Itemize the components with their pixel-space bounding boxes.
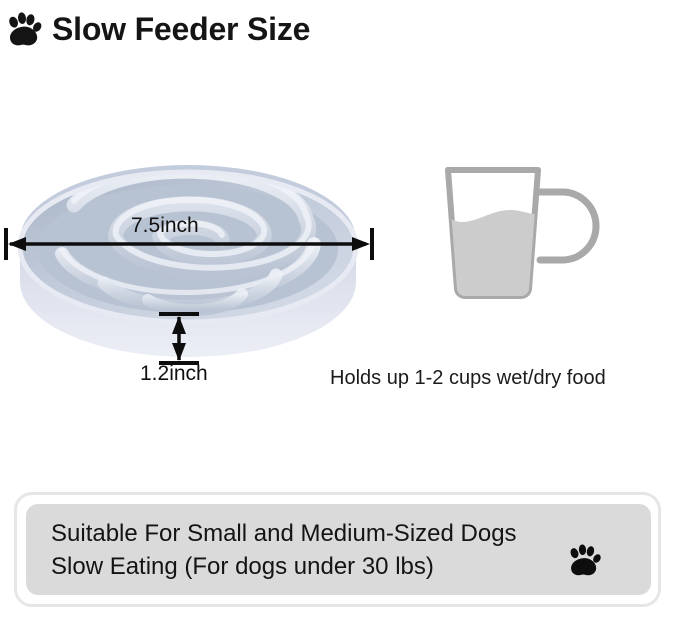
mug-handle xyxy=(540,192,596,260)
page-title: Slow Feeder Size xyxy=(52,11,310,48)
suitability-text: Suitable For Small and Medium-Sized Dogs… xyxy=(51,517,565,583)
page-header: Slow Feeder Size xyxy=(0,0,679,58)
width-dimension-label: 7.5inch xyxy=(131,214,199,238)
paw-print-icon xyxy=(4,9,44,49)
height-dimension-label: 1.2inch xyxy=(140,362,208,386)
capacity-caption: Holds up 1-2 cups wet/dry food xyxy=(330,367,679,390)
slow-feeder-bowl-illustration xyxy=(0,150,395,395)
suitability-callout-panel: Suitable For Small and Medium-Sized Dogs… xyxy=(26,504,651,595)
paw-print-icon xyxy=(565,541,603,579)
capacity-mug-illustration xyxy=(420,150,679,350)
suitability-callout: Suitable For Small and Medium-Sized Dogs… xyxy=(14,492,661,607)
